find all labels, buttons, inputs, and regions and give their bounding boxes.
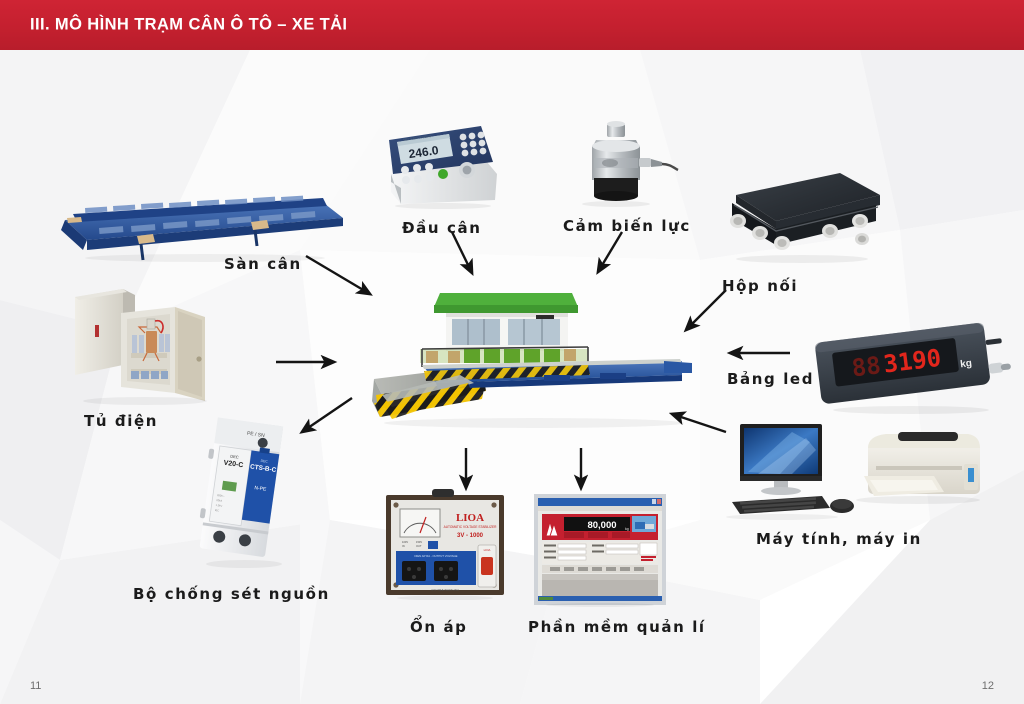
label-san-can: Sàn cân	[224, 255, 302, 273]
arrow-hop-noi	[686, 290, 726, 330]
header-banner: III. MÔ HÌNH TRẠM CÂN Ô TÔ – XE TẢI	[0, 0, 1024, 50]
arrow-cam-bien-luc	[598, 232, 622, 272]
page-number-left: 11	[30, 680, 41, 692]
label-on-ap: Ổn áp	[410, 618, 468, 636]
page-title: III. MÔ HÌNH TRẠM CÂN Ô TÔ – XE TẢI	[30, 16, 347, 35]
label-may-tinh-may-in: Máy tính, máy in	[756, 530, 922, 548]
label-phan-mem-quan-li: Phần mềm quản lí	[528, 618, 706, 636]
arrow-san-can	[306, 256, 370, 294]
arrow-dau-can	[452, 232, 472, 273]
label-cam-bien-luc: Cảm biến lực	[563, 217, 691, 235]
label-bo-chong-set-nguon: Bộ chống sét nguồn	[133, 585, 330, 603]
page-number-right: 12	[982, 680, 994, 692]
label-dau-can: Đầu cân	[402, 219, 481, 237]
label-bang-led: Bảng led	[727, 370, 814, 388]
slide-canvas: III. MÔ HÌNH TRẠM CÂN Ô TÔ – XE TẢI	[0, 0, 1024, 704]
arrow-bo-chong-set	[302, 398, 352, 432]
label-tu-dien: Tủ điện	[84, 412, 158, 430]
label-hop-noi: Hộp nối	[722, 277, 798, 295]
arrow-may-tinh	[672, 414, 726, 432]
